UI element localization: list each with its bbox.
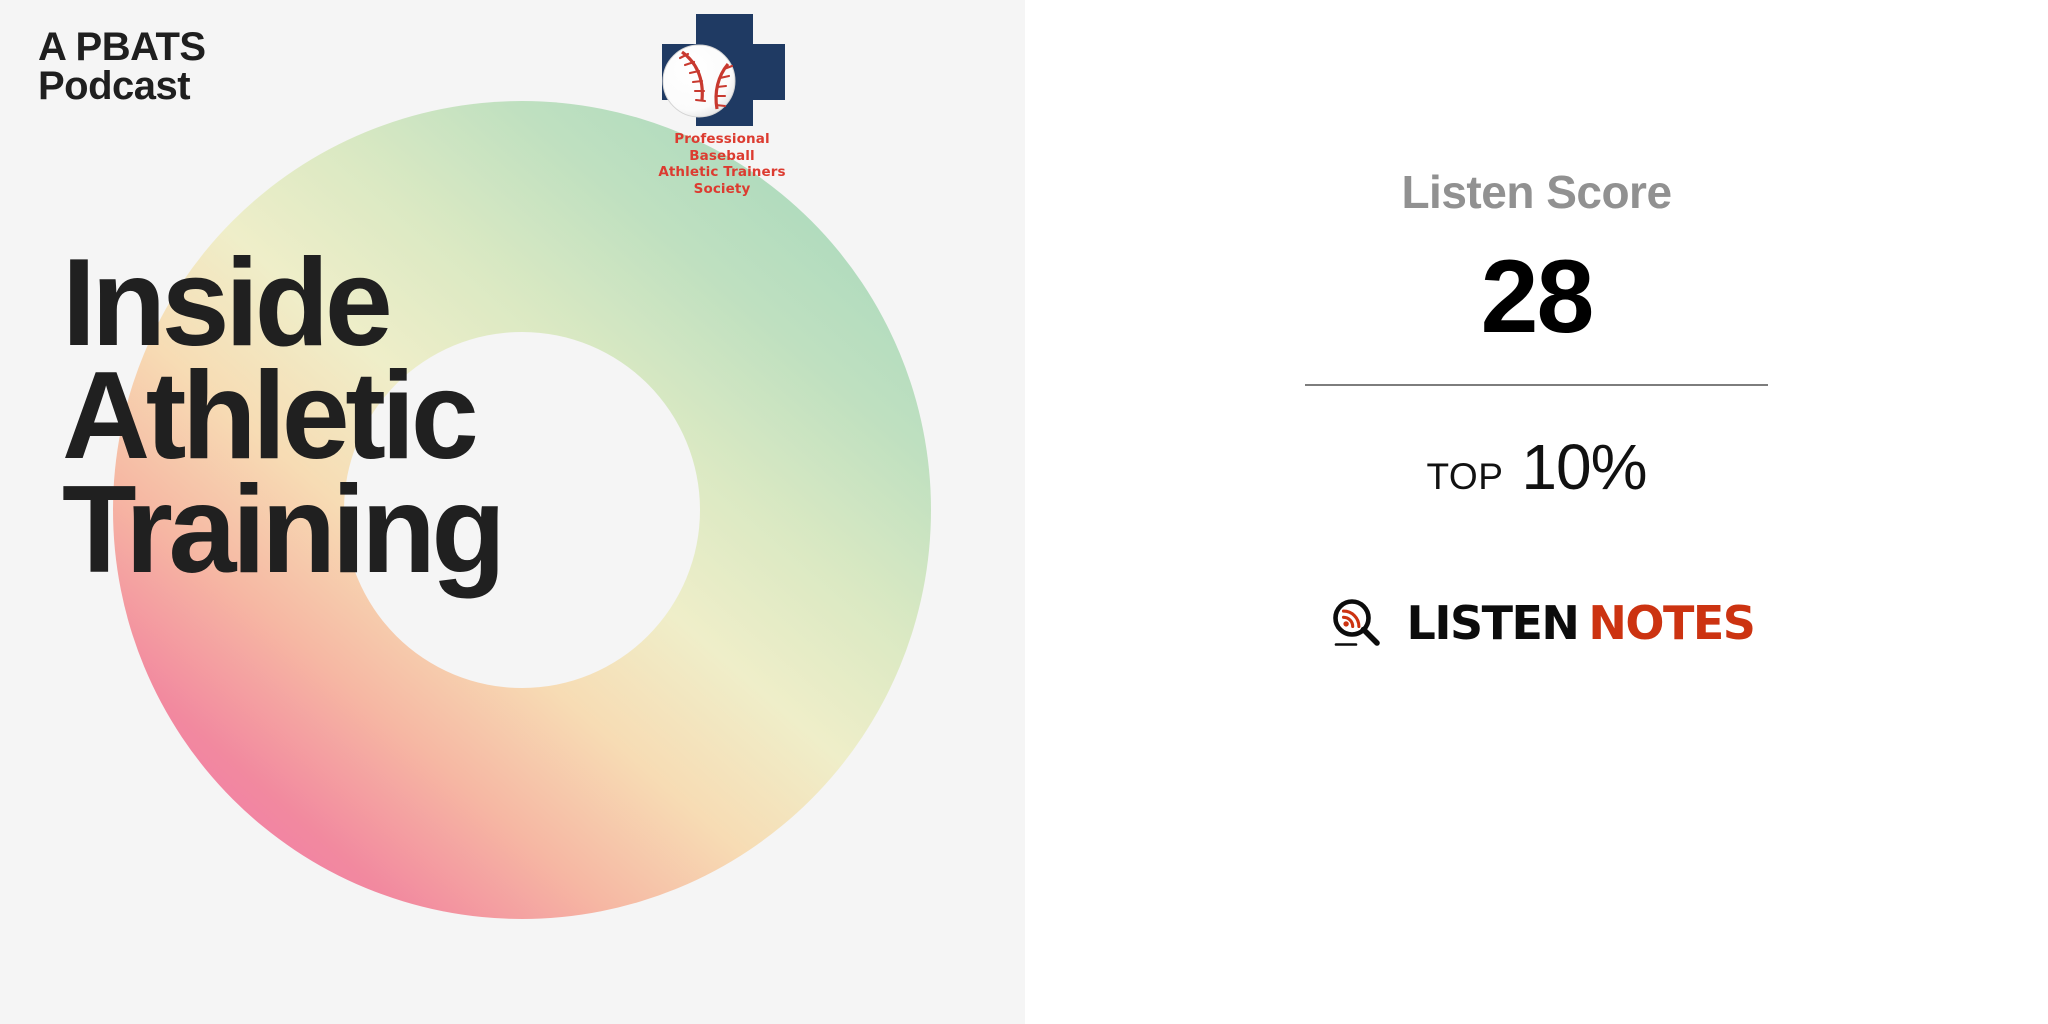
- listen-notes-magnifier-rss-icon: [1329, 595, 1385, 651]
- listen-score-rank: TOP10%: [1305, 430, 1768, 504]
- rank-percent-value: 10%: [1521, 431, 1646, 503]
- listen-score-card: A PBATS Podcast Inside Athletic Training: [0, 0, 2048, 1024]
- listen-notes-logo[interactable]: LISTENNOTES: [1315, 595, 1768, 651]
- brand-word-listen: LISTEN: [1407, 596, 1579, 650]
- listen-notes-wordmark: LISTENNOTES: [1407, 600, 1755, 646]
- cover-kicker: A PBATS Podcast: [38, 28, 206, 106]
- listen-score-panel: Listen Score 28 TOP10%: [1025, 0, 2048, 1024]
- listen-score-value: 28: [1305, 238, 1768, 357]
- podcast-cover-art[interactable]: A PBATS Podcast Inside Athletic Training: [0, 0, 1025, 1024]
- brand-word-notes: NOTES: [1588, 596, 1754, 650]
- rank-prefix-label: TOP: [1427, 456, 1504, 497]
- listen-score-label: Listen Score: [1305, 165, 1768, 219]
- pbats-cross-baseball-icon: [652, 8, 792, 130]
- cover-title: Inside Athletic Training: [62, 247, 502, 587]
- pbats-badge: Professional Baseball Athletic Trainers …: [647, 8, 797, 198]
- panel-divider: [1305, 384, 1768, 386]
- pbats-badge-text: Professional Baseball Athletic Trainers …: [647, 131, 797, 198]
